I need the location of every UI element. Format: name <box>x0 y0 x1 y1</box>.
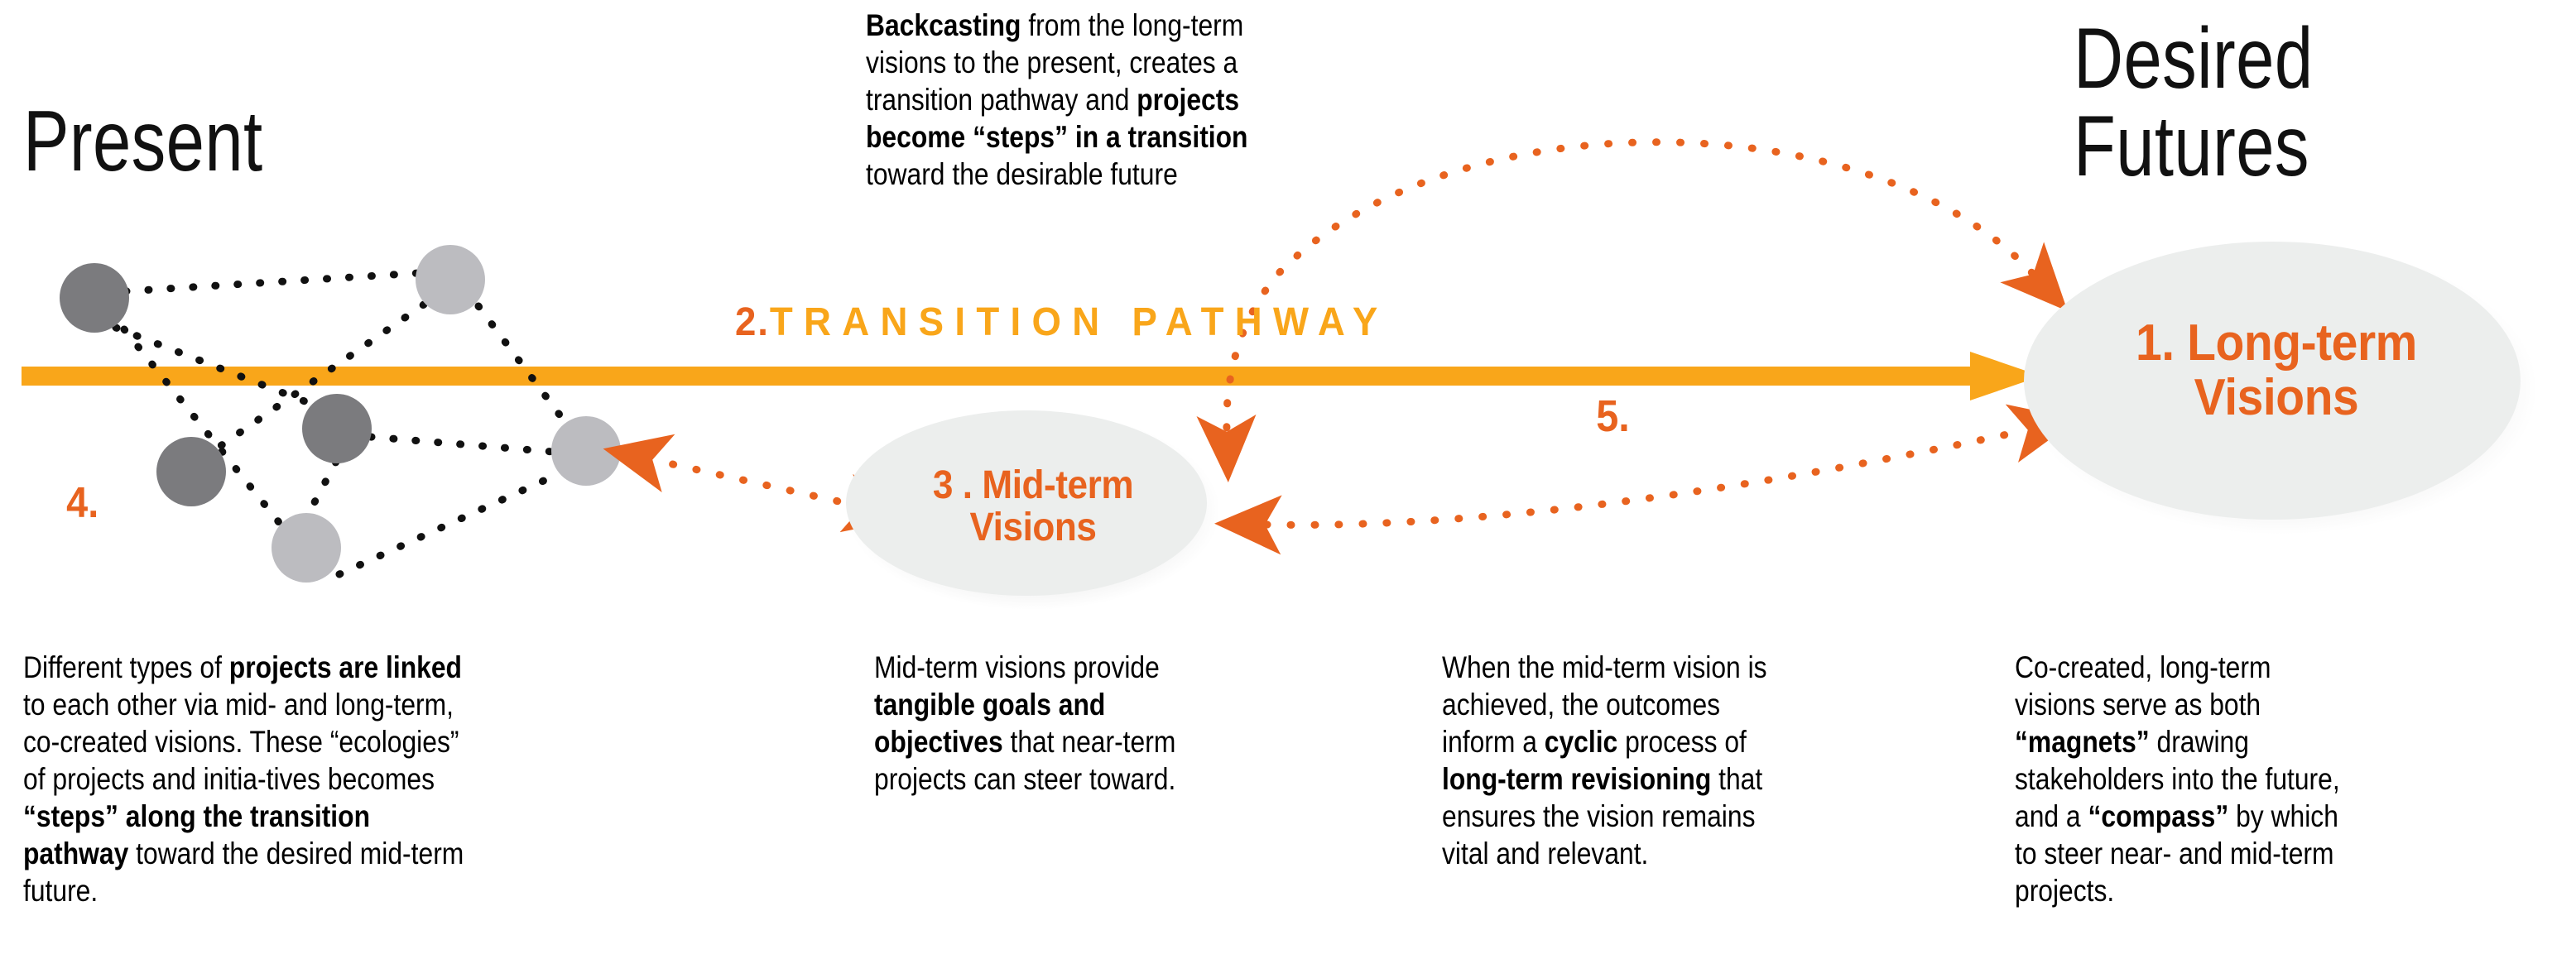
project-node-dark-3 <box>156 437 226 506</box>
pathway-label-text: TRANSITION PATHWAY <box>770 300 1389 344</box>
backcasting-arc <box>1227 142 2032 430</box>
transition-pathway-label: 2.TRANSITION PATHWAY <box>735 300 1389 345</box>
project-node-light-1 <box>416 245 485 314</box>
desired-futures-heading: Desired Futures <box>2074 15 2314 190</box>
project-node-light-3 <box>551 416 621 486</box>
long-term-visions-ellipse[interactable] <box>2024 242 2521 520</box>
transition-pathway-diagram: project network --> long-term --> Presen… <box>0 0 2576 959</box>
revisioning-cycle-arc <box>1266 430 2026 525</box>
pathway-step-number: 2. <box>735 300 770 344</box>
transition-pathway-arrow <box>22 352 2041 400</box>
project-node-dark-1 <box>60 263 129 333</box>
caption-mid-term: Mid-term visions provide tangible goals … <box>874 649 1209 798</box>
project-node-light-2 <box>272 513 341 583</box>
step-number-4: 4. <box>66 478 99 528</box>
project-node-dark-2 <box>302 394 372 463</box>
caption-cyclic: When the mid-term vision is achieved, th… <box>1442 649 1776 872</box>
caption-long-term: Co-created, long-term visions serve as b… <box>2015 649 2357 909</box>
backcasting-note: Backcasting from the long-term visions t… <box>866 7 1307 193</box>
midterm-to-projects-arrow <box>654 460 861 506</box>
step-number-5: 5. <box>1596 391 1630 442</box>
caption-projects: Different types of projects are linked t… <box>23 649 478 909</box>
project-network-nodes <box>60 245 621 583</box>
present-heading: Present <box>23 98 263 185</box>
mid-term-visions-ellipse[interactable] <box>846 410 1207 596</box>
